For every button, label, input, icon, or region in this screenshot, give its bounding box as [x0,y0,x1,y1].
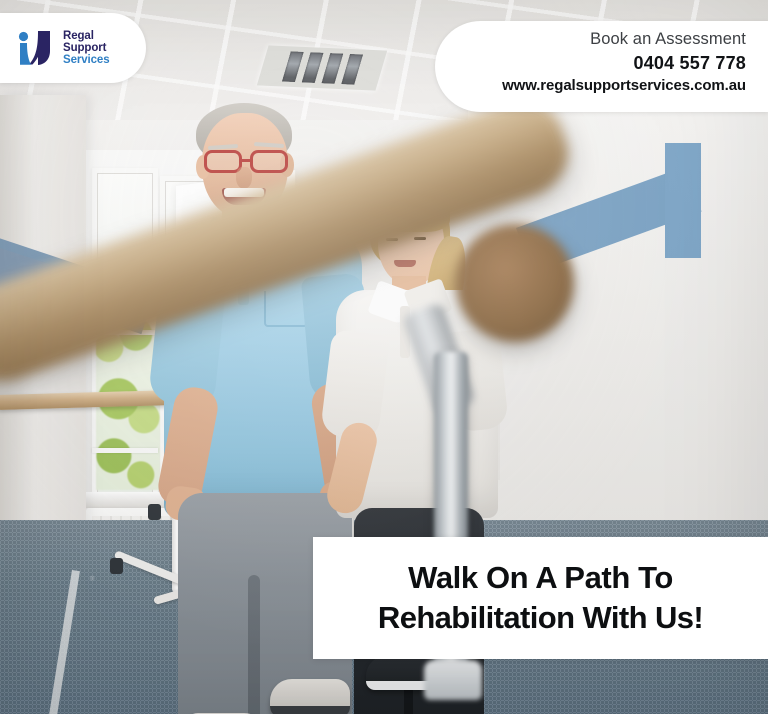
light-louver [341,54,363,85]
brand-line-3: Services [63,54,110,66]
phone-number[interactable]: 0404 557 778 [435,53,746,74]
man-leg-separation [248,575,260,714]
light-louver [321,53,343,84]
headline-line-1: Walk On A Path To [408,558,673,598]
marketing-poster: Regal Support Services Book an Assessmen… [0,0,768,714]
bar-end-cap-blurred [456,224,574,342]
glasses-bridge [242,159,252,162]
book-assessment-label: Book an Assessment [435,30,746,49]
foreground-pole-base [424,660,482,700]
man-nose [236,167,252,189]
brand-line-1: Regal [63,30,110,42]
brand-wordmark: Regal Support Services [63,30,110,67]
window-mullion [92,448,158,453]
contact-card[interactable]: Book an Assessment 0404 557 778 www.rega… [435,21,768,112]
bar-foot-cap [110,558,123,574]
glasses-lens [250,150,288,173]
wall-stripe-right-face [665,143,701,258]
light-louver [282,51,304,82]
brand-line-2: Support [63,42,110,54]
recessed-light-icon [257,45,387,90]
headline-line-2: Rehabilitation With Us! [378,598,703,638]
brand-logo-card[interactable]: Regal Support Services [0,13,146,83]
therapist-smile [394,260,416,267]
headline-card: Walk On A Path To Rehabilitation With Us… [313,537,768,659]
website-url[interactable]: www.regalsupportservices.com.au [435,77,746,94]
regal-support-services-logo-icon [14,28,54,68]
light-louver [301,52,323,83]
